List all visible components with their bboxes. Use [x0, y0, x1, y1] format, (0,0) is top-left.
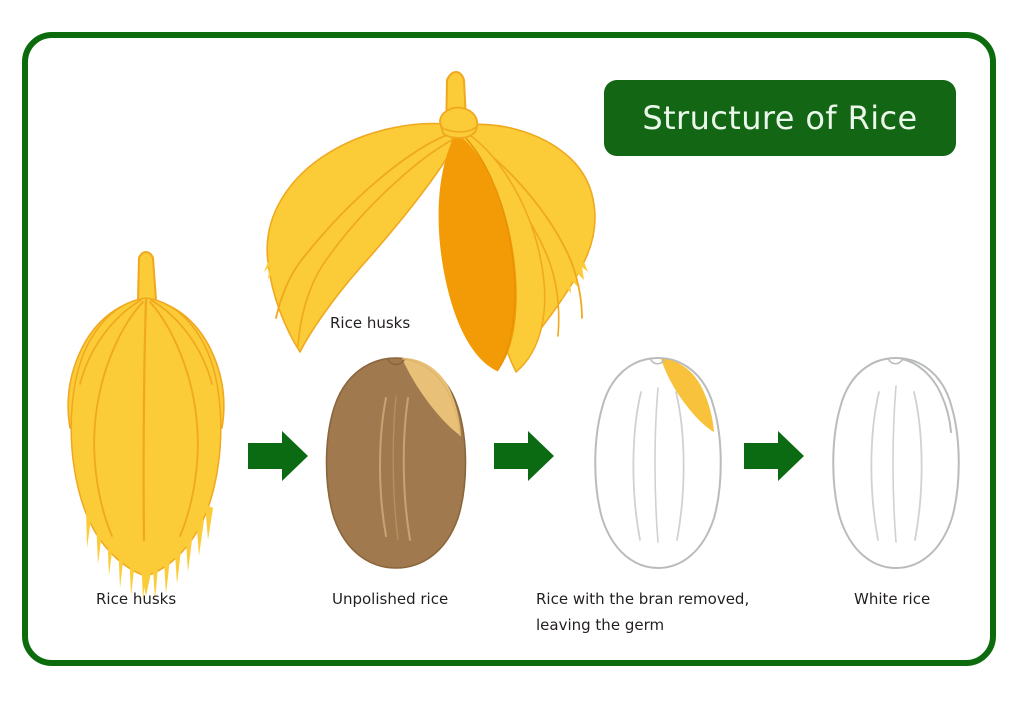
label-unpolished-rice: Unpolished rice [332, 586, 448, 612]
page-title-text: Structure of Rice [642, 99, 917, 137]
page-title: Structure of Rice [604, 80, 956, 156]
label-rice-husks-top: Rice husks [330, 310, 410, 336]
diagram-canvas: Structure of Rice Rice husks Rice husks … [0, 0, 1024, 716]
label-white-rice: White rice [854, 586, 930, 612]
label-rice-husks: Rice husks [96, 586, 176, 612]
label-bran-removed: Rice with the bran removed, leaving the … [536, 586, 749, 638]
